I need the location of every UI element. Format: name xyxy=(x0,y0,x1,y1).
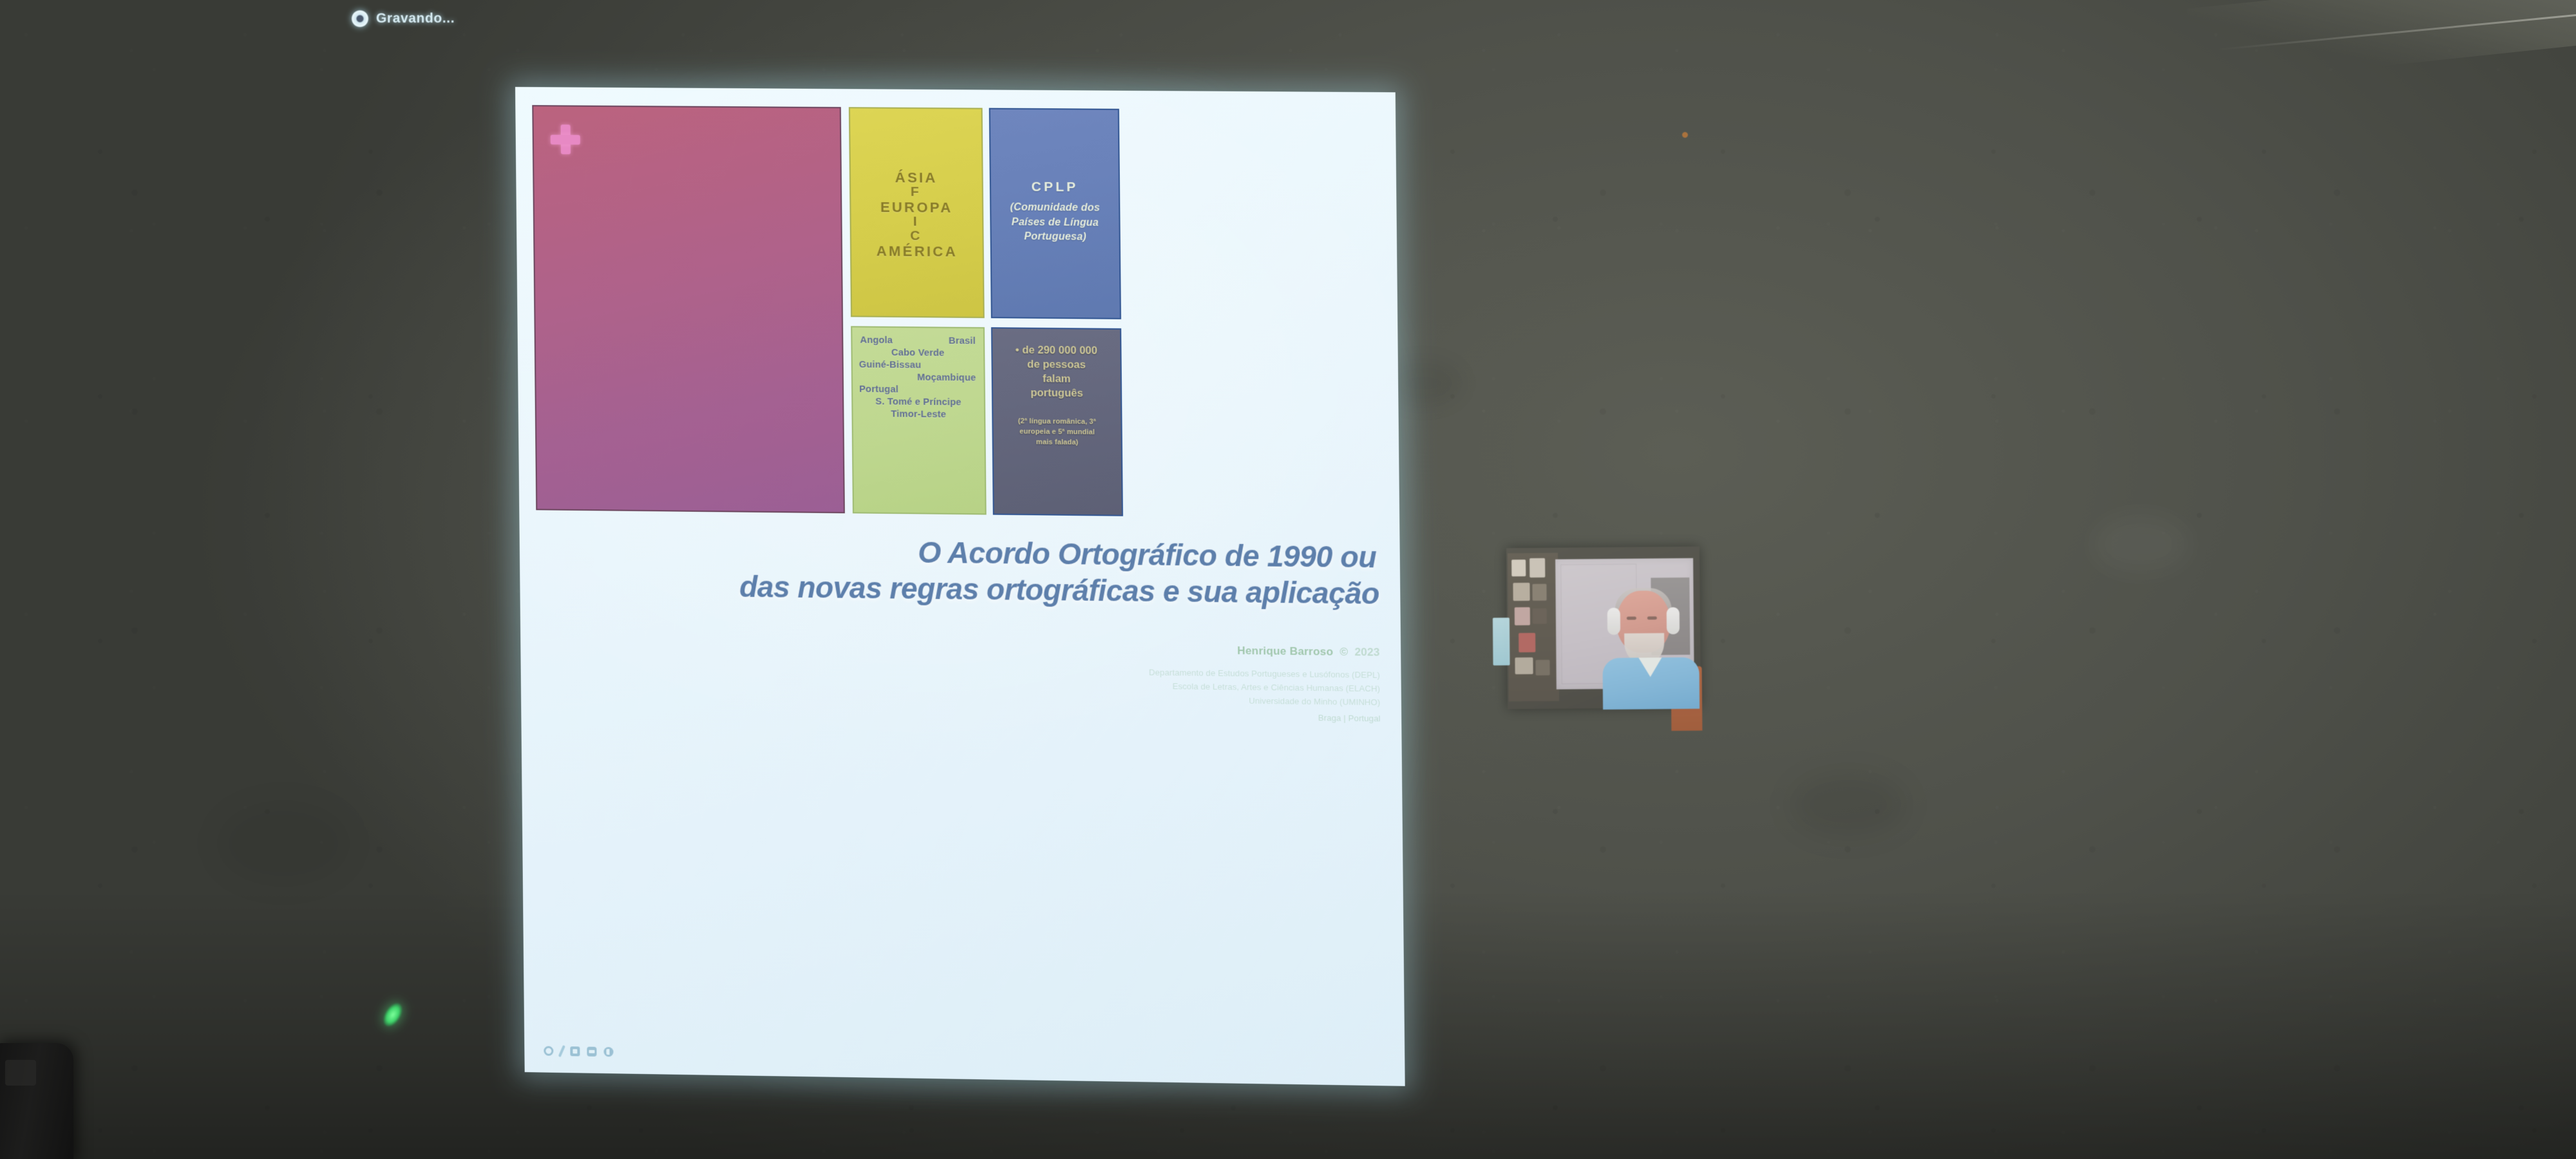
speakers-line-3: falam xyxy=(1043,372,1071,386)
headphone-icon xyxy=(1667,607,1680,634)
continents-panel: ÁSIA F EUROPA I C AMÉRICA xyxy=(849,107,985,318)
country-guine-bissau: Guiné-Bissau xyxy=(859,360,979,372)
headphone-icon xyxy=(1607,608,1620,635)
dot-icon[interactable] xyxy=(603,1047,613,1057)
ranking-line-2: europeia e 5ª mundial xyxy=(1018,428,1096,438)
slash-icon[interactable] xyxy=(558,1045,565,1057)
ranking-line-1: (2ª língua românica, 3ª xyxy=(1018,417,1096,428)
rounded-square-icon[interactable] xyxy=(587,1047,596,1057)
recording-indicator[interactable]: Gravando... xyxy=(348,8,464,30)
author-name: Henrique Barroso xyxy=(1237,645,1333,658)
shelf-item xyxy=(1535,660,1549,675)
affiliation-line-3: Universidade do Minho (UMINHO) xyxy=(1149,693,1380,710)
author-line: Henrique Barroso © 2023 xyxy=(1149,643,1380,659)
ranking-line-3: mais falada) xyxy=(1018,438,1096,449)
continent-america: AMÉRICA xyxy=(876,243,958,259)
circle-icon[interactable] xyxy=(544,1046,553,1056)
webcam-shelf xyxy=(1508,553,1559,702)
recording-label: Gravando... xyxy=(376,11,455,26)
country-list: Angola Brasil Cabo Verde Guiné-Bissau Mo… xyxy=(857,335,979,420)
country-angola: Angola xyxy=(860,335,893,346)
copyright-icon: © xyxy=(1340,646,1348,658)
speakers-language: português xyxy=(1030,386,1083,401)
ceiling-corner xyxy=(2186,0,2576,86)
country-timor-leste: Timor-Leste xyxy=(858,409,980,420)
projected-slide-area: ÁSIA F EUROPA I C AMÉRICA CPLP (Comunida… xyxy=(515,87,1405,1086)
cplp-expansion-line-3: Portuguesa) xyxy=(1024,230,1086,245)
shelf-item xyxy=(1533,608,1547,624)
presenter-eye xyxy=(1647,616,1657,619)
country-row: Angola Brasil xyxy=(857,335,978,347)
bullet-icon: • xyxy=(1016,344,1019,356)
magenta-panel xyxy=(532,105,845,513)
country-mocambique: Moçambique xyxy=(858,372,976,384)
cplp-expansion-line-1: (Comunidade dos xyxy=(1010,200,1100,216)
record-dot-icon xyxy=(352,10,368,27)
shelf-item xyxy=(1511,560,1526,576)
cplp-acronym: CPLP xyxy=(1031,180,1078,196)
presenter-eye xyxy=(1627,617,1636,620)
wall-smudge xyxy=(1790,773,1906,837)
copyright-year: 2023 xyxy=(1354,646,1379,659)
country-portugal: Portugal xyxy=(859,384,979,396)
affiliation-city: Braga | Portugal xyxy=(1150,709,1381,726)
wall-smudge xyxy=(2093,515,2190,573)
wall-smudge xyxy=(219,805,348,882)
wall-speck xyxy=(1682,132,1688,138)
projection-room: Gravando... ÁSIA F EUROPA I C xyxy=(0,0,2576,1159)
speakers-count-line: • de 290 000 000 xyxy=(1016,343,1098,358)
cplp-panel: CPLP (Comunidade dos Países de Língua Po… xyxy=(989,108,1121,319)
presentation-slide[interactable]: ÁSIA F EUROPA I C AMÉRICA CPLP (Comunida… xyxy=(515,87,1405,1086)
shelf-item xyxy=(1529,558,1545,578)
presenter-figure xyxy=(1602,590,1700,708)
plus-icon xyxy=(551,124,580,154)
countries-panel: Angola Brasil Cabo Verde Guiné-Bissau Mo… xyxy=(851,326,986,514)
acrostic-letter-c: C xyxy=(910,229,922,243)
country-sao-tome-e-principe: S. Tomé e Príncipe xyxy=(858,397,979,408)
square-icon[interactable] xyxy=(570,1046,580,1056)
foreground-furniture xyxy=(0,1043,73,1159)
acrostic-letter-i: I xyxy=(913,215,919,229)
shelf-item xyxy=(1513,583,1529,601)
speakers-ranking-note: (2ª língua românica, 3ª europeia e 5ª mu… xyxy=(1018,417,1097,449)
shelf-item xyxy=(1515,607,1530,625)
shelf-item xyxy=(1519,633,1535,652)
speakers-line-2: de pessoas xyxy=(1027,357,1086,372)
continent-europa: EUROPA xyxy=(880,200,953,215)
shelf-item xyxy=(1532,584,1546,601)
shelf-item xyxy=(1515,657,1533,674)
presenter-video-thumbnail[interactable] xyxy=(1506,547,1701,710)
acrostic-letter-f: F xyxy=(911,185,921,200)
slide-credits: Henrique Barroso © 2023 Departamento de … xyxy=(1149,643,1381,725)
slide-graphic-grid: ÁSIA F EUROPA I C AMÉRICA CPLP (Comunida… xyxy=(532,105,1385,529)
footer-icon-strip[interactable] xyxy=(544,1045,613,1059)
green-laser-dot xyxy=(379,1000,406,1030)
speakers-count: de 290 000 000 xyxy=(1022,344,1097,357)
slide-title: O Acordo Ortográfico de 1990 ou das nova… xyxy=(536,530,1387,612)
country-brasil: Brasil xyxy=(949,336,976,346)
slide-content: ÁSIA F EUROPA I C AMÉRICA CPLP (Comunida… xyxy=(532,105,1390,1071)
cplp-expansion-line-2: Países de Língua xyxy=(1012,215,1099,231)
speakers-panel: • de 290 000 000 de pessoas falam portug… xyxy=(991,327,1123,516)
country-cabo-verde: Cabo Verde xyxy=(858,348,979,359)
webcam-light-strip xyxy=(1493,617,1510,665)
continent-asia: ÁSIA xyxy=(895,170,938,185)
